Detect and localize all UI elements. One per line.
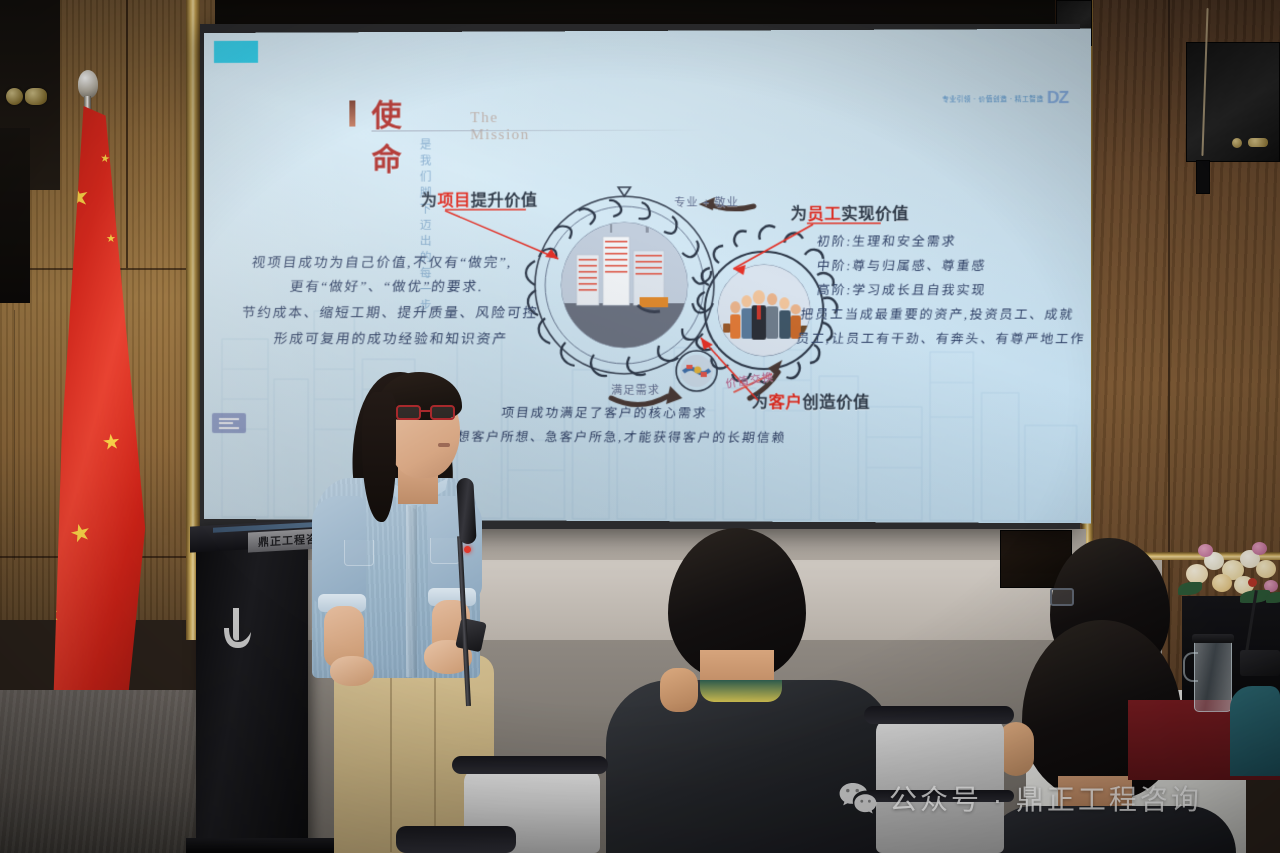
flower-petal: [1256, 560, 1276, 578]
audience-member-far-right: [1230, 686, 1280, 776]
slide-corner-logo-mark: DZ: [1047, 88, 1068, 108]
presentation-menu-icon[interactable]: [212, 413, 246, 433]
flower-leaf: [1266, 592, 1280, 603]
project-text-line-1: 更有“做好”、“做优”的要求.: [289, 275, 485, 295]
employee-text-line-1: 中阶:尊与归属感、尊重感: [816, 255, 988, 274]
project-text-line-2: 节约成本、缩短工期、提升质量、风险可控: [241, 301, 540, 321]
presenter-pocket: [430, 538, 460, 564]
arrow-employee: [725, 222, 817, 279]
project-text-line-0: 视项目成功为自己价值,不仅有“做完”,: [251, 251, 514, 271]
customer-text-line-1: 想客户所想、急客户所急,才能获得客户的长期信赖: [456, 426, 788, 446]
speaker-badge-icon: [1232, 138, 1242, 148]
flag-star-small: ★: [101, 431, 122, 454]
wall-plaque-icon: [6, 88, 23, 105]
project-text-line-3: 形成可复用的成功经验和知识资产: [273, 327, 510, 347]
flag-star-large: ★: [63, 182, 92, 213]
flag-cloth: ★ ★ ★ ★ ★ ★: [44, 106, 154, 746]
chair-frame-left: [452, 756, 608, 774]
audience-glasses: [1050, 588, 1074, 606]
flag-star-small: ★: [67, 520, 94, 548]
employee-text-line-0: 初阶:生理和安全需求: [816, 230, 958, 249]
slide-accent-tab: [214, 41, 258, 63]
podium: [196, 528, 308, 853]
flag-star-small: ★: [106, 234, 116, 245]
projection-screen[interactable]: 专业引领 · 价值创造 · 精工智造 DZ 使命 The Mission 是我们…: [204, 29, 1091, 524]
presenter-trouser-pleat: [434, 662, 436, 852]
chair-rail-right: [864, 790, 1014, 802]
audience-polo-collar: [700, 680, 782, 702]
employee-text-line-2: 高阶:学习成长且自我实现: [816, 279, 988, 298]
presenter-trouser-pleat: [390, 662, 392, 852]
heading-project: 为项目提升价值: [421, 186, 538, 210]
title-accent-bar: [349, 100, 355, 126]
gear-label-1: 满足需求: [611, 382, 660, 398]
glasses-lens-right: [430, 405, 455, 420]
slide-title-cn: 使命: [371, 90, 405, 178]
table-device: [1240, 650, 1280, 676]
title-divider: [371, 130, 705, 132]
glasses-bridge: [421, 410, 430, 412]
flower-arrangement: [1178, 538, 1280, 610]
microphone-head: [456, 478, 476, 545]
podium-base: [186, 838, 336, 853]
chair-back-right[interactable]: [876, 718, 1004, 853]
glass-lid: [1192, 634, 1234, 643]
chair-frame-right: [864, 706, 1014, 724]
heading-customer: 为客户创造价值: [752, 388, 870, 413]
slide-title-en: The Mission: [470, 110, 530, 144]
heading-employee: 为员工实现价值: [791, 200, 909, 224]
speaker-badge-icon: [1248, 138, 1268, 147]
employee-text-line-3: 把员工当成最重要的资产,投资员工、成就: [800, 303, 1076, 322]
flag-finial: [78, 70, 98, 98]
presenter-shirt-placket: [406, 505, 417, 677]
water-glass: [1194, 640, 1232, 712]
flower-petal: [1212, 574, 1232, 592]
flower-petal: [1186, 564, 1208, 584]
audience-torso: [606, 680, 894, 853]
slide-corner-logo-text: 专业引领 · 价值创造 · 精工智造: [942, 93, 1044, 104]
audience-hand: [660, 668, 698, 712]
presentation-photo-scene: 专业引领 · 价值创造 · 精工智造 DZ 使命 The Mission 是我们…: [0, 0, 1280, 853]
chinese-flag: ★ ★ ★ ★ ★ ★: [22, 34, 152, 774]
flag-star-small: ★: [39, 604, 63, 629]
presenter-hand-left: [330, 656, 374, 686]
flower-petal-pink: [1252, 542, 1267, 555]
presenter-glasses: [396, 405, 460, 421]
gear-label-0: 专业 + 敬业: [674, 194, 739, 210]
flower-petal-pink: [1198, 544, 1213, 557]
heading-employee-underline: [807, 222, 881, 224]
table-microphone-led-icon: [1248, 578, 1257, 587]
slide-corner-logo: 专业引领 · 价值创造 · 精工智造 DZ: [942, 88, 1068, 109]
audience-torso: [986, 806, 1236, 853]
employee-text-line-4: 员工,让员工有干劲、有奔头、有尊严地工作: [796, 328, 1087, 348]
presenter-pocket: [344, 540, 374, 566]
speaker-bracket: [1196, 160, 1210, 194]
wall-seam: [14, 310, 15, 560]
presenter-mouth: [438, 443, 450, 447]
microphone-led-icon: [464, 546, 471, 553]
customer-text-line-0: 项目成功满足了客户的核心需求: [500, 402, 709, 422]
chair-frame-foreground: [396, 826, 516, 853]
arrow-customer: [695, 334, 766, 405]
wall-seam: [1168, 0, 1170, 700]
glasses-lens-left: [396, 405, 421, 420]
dingzheng-logo-icon: [220, 606, 254, 652]
flower-leaf: [1178, 582, 1202, 595]
flag-star-small: ★: [99, 153, 110, 165]
